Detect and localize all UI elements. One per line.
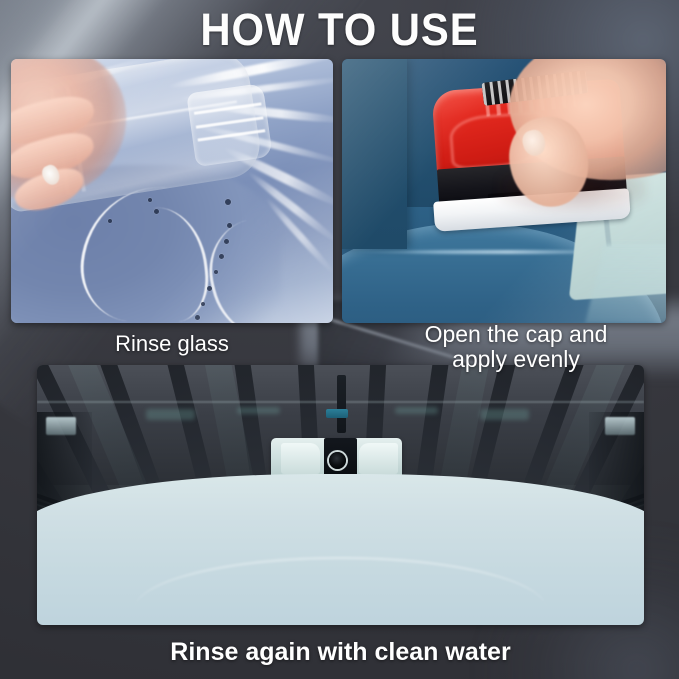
how-to-use-infographic: HOW TO USE — [0, 0, 679, 679]
mirror-wing-left — [281, 443, 320, 474]
step-3-image — [37, 365, 644, 625]
glass-tint-reflection — [237, 407, 279, 415]
water-bead — [225, 199, 231, 205]
glass-tint-reflection — [395, 407, 437, 415]
bottle-neck — [187, 83, 274, 167]
bottle-neck-ring — [194, 103, 262, 115]
water-bead — [224, 239, 229, 244]
step-1-image — [11, 59, 333, 323]
step-3-caption: Rinse again with clean water — [37, 639, 644, 666]
sun-visor-left — [46, 417, 76, 435]
glass-tint-reflection — [480, 409, 529, 419]
page-title: HOW TO USE — [24, 4, 655, 56]
mirror-wing-right — [359, 443, 398, 474]
step-2-image — [342, 59, 666, 323]
water-bead — [108, 219, 112, 223]
step-1-caption: Rinse glass — [11, 332, 333, 356]
water-bead — [201, 302, 205, 306]
water-bead — [195, 315, 200, 320]
bottle-neck-ring — [198, 129, 266, 141]
mirror-mount-cap — [326, 409, 348, 418]
glass-tint-reflection — [146, 409, 195, 419]
water-bead — [148, 198, 152, 202]
step-2-caption: Open the cap and apply evenly — [396, 322, 636, 372]
water-bead — [227, 223, 232, 228]
bottle-neck-ring — [196, 116, 264, 128]
sun-visor-right — [605, 417, 635, 435]
rain-sensor-lens — [329, 452, 346, 469]
car-body-left-panel — [342, 59, 407, 249]
mirror-stem — [337, 375, 346, 432]
